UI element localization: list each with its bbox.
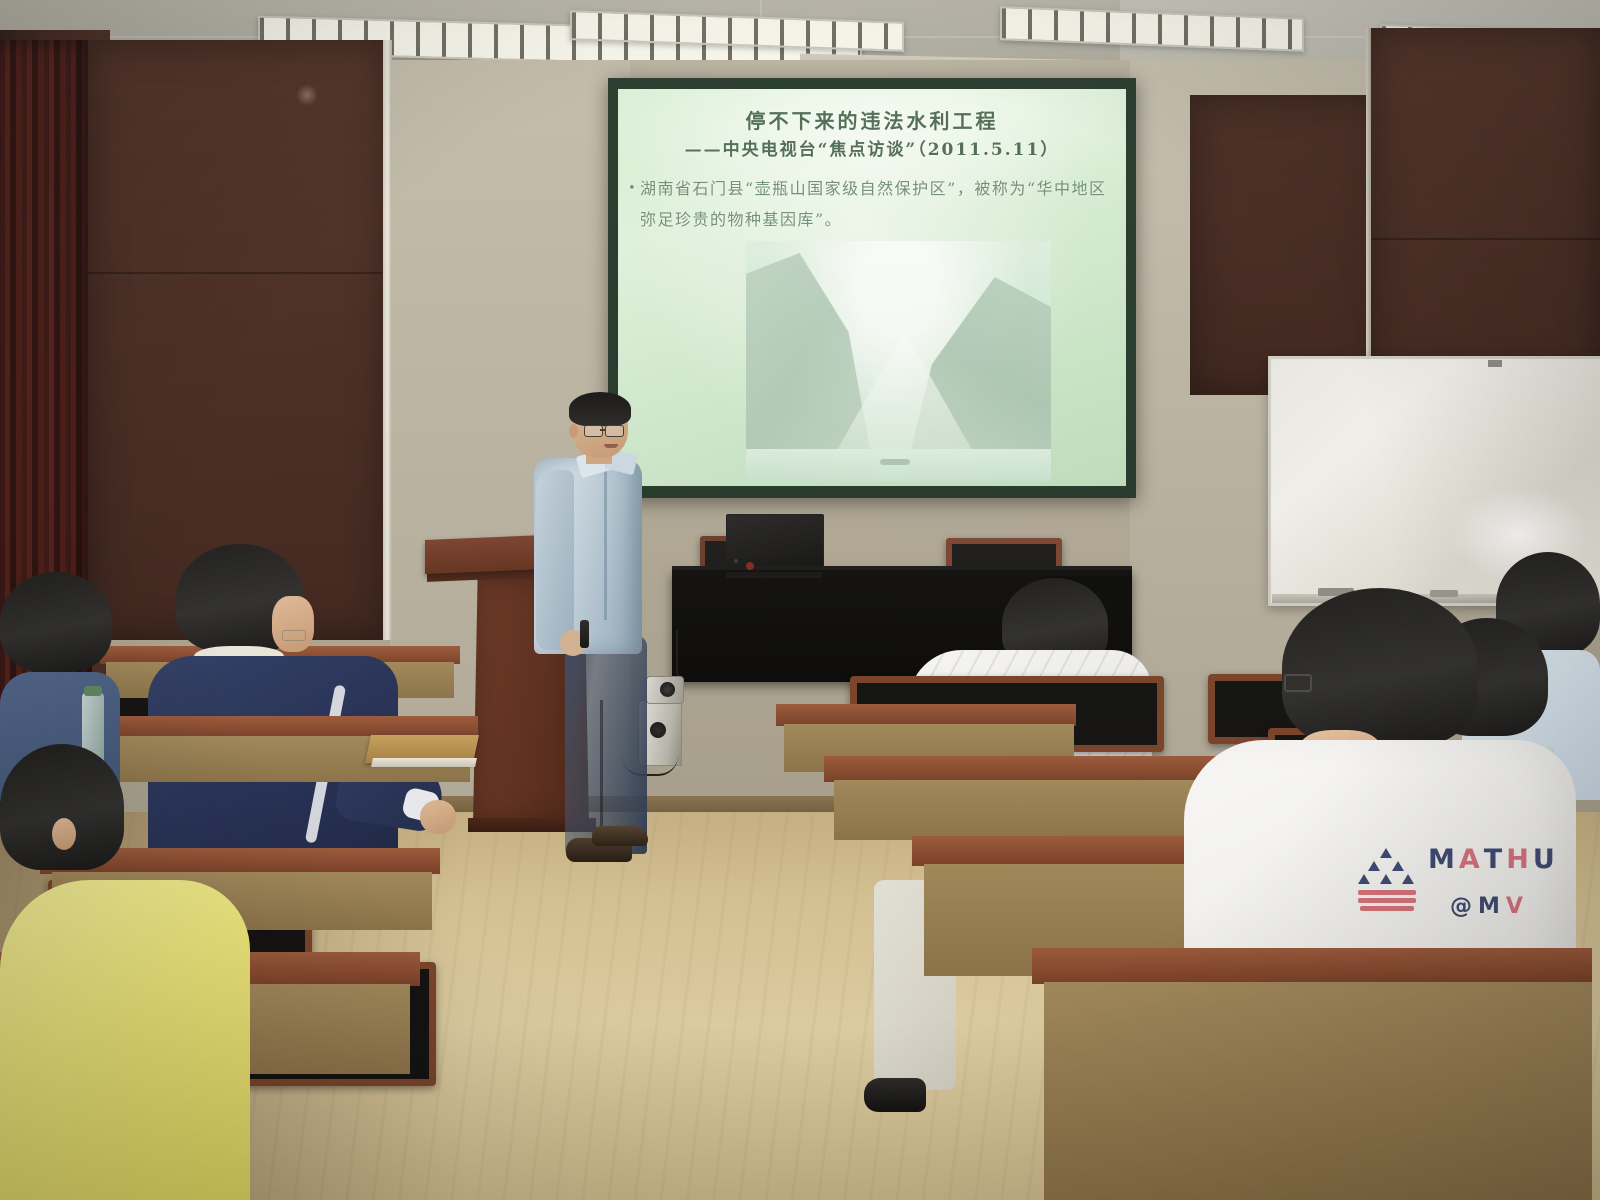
desk [1032,948,1592,984]
tee-letter: @ [1450,896,1472,918]
presenter-ear [569,424,578,438]
desk-front-panel [834,780,1240,840]
slide-photo-boat [880,459,910,465]
slide-photo [746,241,1051,481]
laptop-hinge [726,572,822,578]
wood-wall-panel-far-right [1370,28,1600,378]
slide-title: 停不下来的违法水利工程 [618,105,1126,134]
student-shoe [864,1078,926,1112]
student-head [1282,588,1478,748]
slide-bullet-text: 湖南省石门县“壶瓶山国家级自然保护区”，被称为“华中地区弥足珍贵的物种基因库”。 [640,173,1112,235]
projection-screen: 停不下来的违法水利工程 ——中央电视台“焦点访谈”（2011.5.11） 湖南省… [608,78,1136,498]
projection-screen-surface: 停不下来的违法水利工程 ——中央电视台“焦点访谈”（2011.5.11） 湖南省… [618,89,1126,486]
tee-letter: H [1506,846,1529,873]
student-head [0,744,124,870]
slide-subtitle: ——中央电视台“焦点访谈”（2011.5.11） [618,135,1126,160]
presenter-shoe [592,826,648,846]
speaker-cone [650,722,666,738]
tee-letter: M [1478,896,1500,918]
slide-photo-water [746,449,1051,481]
tee-letter: T [1484,846,1502,873]
desk [776,704,1076,726]
tee-letter: U [1533,846,1555,873]
speaker-head-cone [660,682,675,697]
tee-letter: M [1428,846,1455,873]
wall-corner-trim [1366,28,1371,380]
tee-letters-row-2: @ M V [1450,892,1580,922]
tee-letters-row-1: M A T H U [1428,842,1578,876]
presenter-mouth [604,444,618,448]
wall-trim-strip [383,40,392,640]
presenter-glasses [605,425,624,437]
tee-flag-graphic [1358,848,1420,910]
classroom-photo: 停不下来的违法水利工程 ——中央电视台“焦点访谈”（2011.5.11） 湖南省… [0,0,1600,1200]
book-pages [371,758,477,767]
presenter-arm [536,470,574,650]
presenter-shirt-placket [604,470,607,620]
cable [676,630,700,682]
student-hand [420,800,456,834]
wall-light-reflection [296,84,318,106]
presenter-hair [569,392,631,426]
presenter-legs [565,636,647,854]
desk-front-panel [1044,982,1592,1200]
desk-indicator [746,562,754,570]
whiteboard-eraser [1430,590,1458,597]
presenter-glasses-bridge [600,429,606,431]
presentation-clicker[interactable] [580,620,589,648]
student-head [0,572,112,672]
wood-wall-panel-center-right [1190,95,1385,395]
water-bottle-cap [84,686,102,696]
tee-letter: A [1459,846,1480,873]
presenter-glasses [584,425,603,437]
student-yellow-shirt [0,880,250,1200]
whiteboard-clip [1488,360,1502,367]
tee-letter: V [1506,896,1523,918]
student-ear [52,818,76,850]
student-face [272,596,314,652]
laptop-indicator-light [734,559,738,563]
student-glasses [1284,674,1312,692]
student-glasses [282,630,306,641]
desk [824,756,1244,782]
